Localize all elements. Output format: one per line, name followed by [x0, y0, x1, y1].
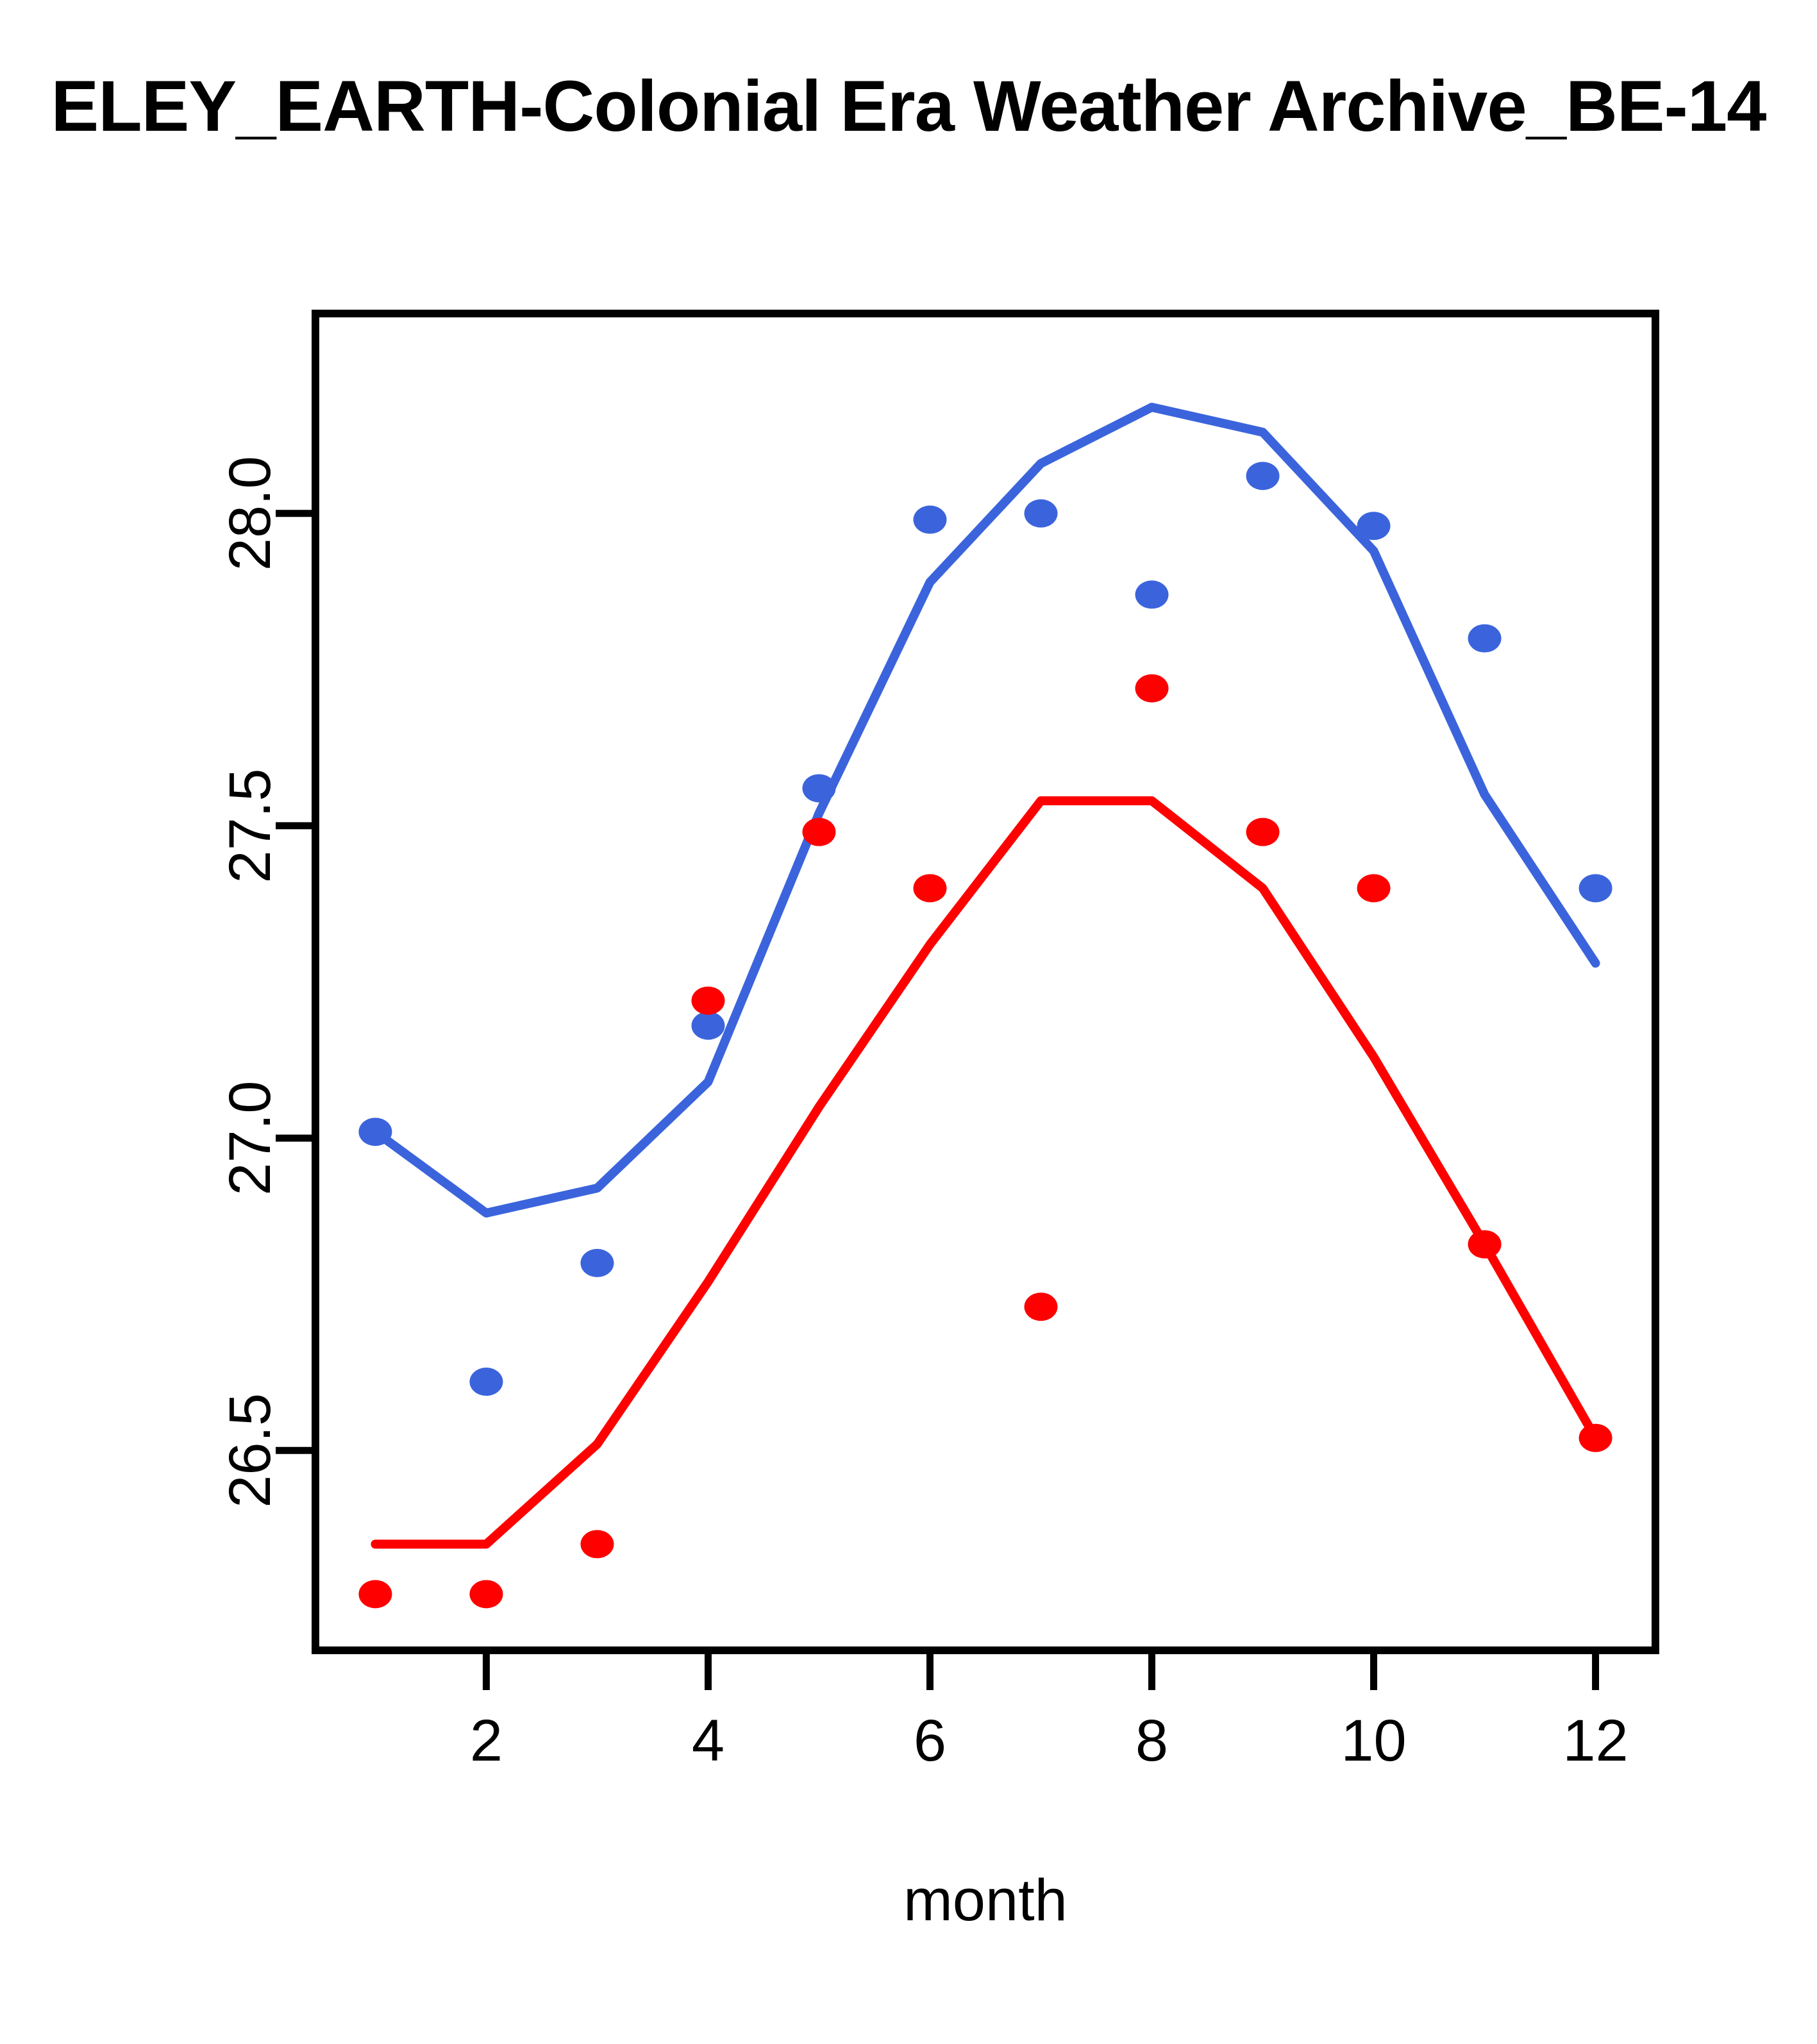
data-point-blue-points	[1468, 624, 1502, 653]
data-point-blue-points	[580, 1249, 614, 1277]
y-tick-label: 26.5	[217, 1393, 283, 1508]
data-point-red-points	[1135, 674, 1169, 703]
data-point-red-points	[358, 1580, 392, 1608]
y-tick-label: 27.0	[217, 1081, 283, 1196]
plot-area: 2468101228.027.527.026.5month	[0, 0, 1817, 2044]
data-point-red-points	[691, 987, 724, 1015]
chart-page: ELEY_EARTH-Colonial Era Weather Archive_…	[0, 0, 1817, 2044]
data-point-blue-points	[1246, 462, 1280, 490]
x-tick-label: 2	[470, 1708, 503, 1773]
series-line-blue-line	[375, 407, 1595, 1213]
x-tick-label: 12	[1562, 1708, 1628, 1773]
x-tick-label: 10	[1341, 1708, 1406, 1773]
data-point-red-points	[1246, 818, 1280, 846]
data-point-red-points	[913, 874, 946, 902]
plot-frame	[315, 314, 1655, 1650]
data-point-blue-points	[469, 1368, 503, 1396]
series-line-red-line	[375, 801, 1595, 1544]
x-tick-label: 6	[914, 1708, 946, 1773]
x-tick-label: 4	[692, 1708, 724, 1773]
data-point-blue-points	[913, 506, 946, 534]
data-point-red-points	[1579, 1424, 1612, 1452]
data-point-red-points	[1357, 874, 1391, 902]
data-point-red-points	[469, 1580, 503, 1608]
y-tick-label: 28.0	[217, 456, 283, 571]
data-point-blue-points	[1135, 580, 1169, 608]
data-point-blue-points	[358, 1118, 392, 1146]
data-point-red-points	[580, 1530, 614, 1558]
data-point-red-points	[802, 818, 835, 846]
x-tick-label: 8	[1135, 1708, 1168, 1773]
data-point-blue-points	[802, 774, 835, 802]
data-point-red-points	[1468, 1230, 1502, 1259]
data-point-blue-points	[1357, 512, 1391, 540]
y-tick-label: 27.5	[217, 768, 283, 883]
data-point-blue-points	[1579, 874, 1612, 902]
data-point-blue-points	[1025, 499, 1058, 528]
x-axis-title: month	[903, 1868, 1068, 1933]
data-point-blue-points	[691, 1012, 724, 1040]
data-point-red-points	[1025, 1293, 1058, 1321]
